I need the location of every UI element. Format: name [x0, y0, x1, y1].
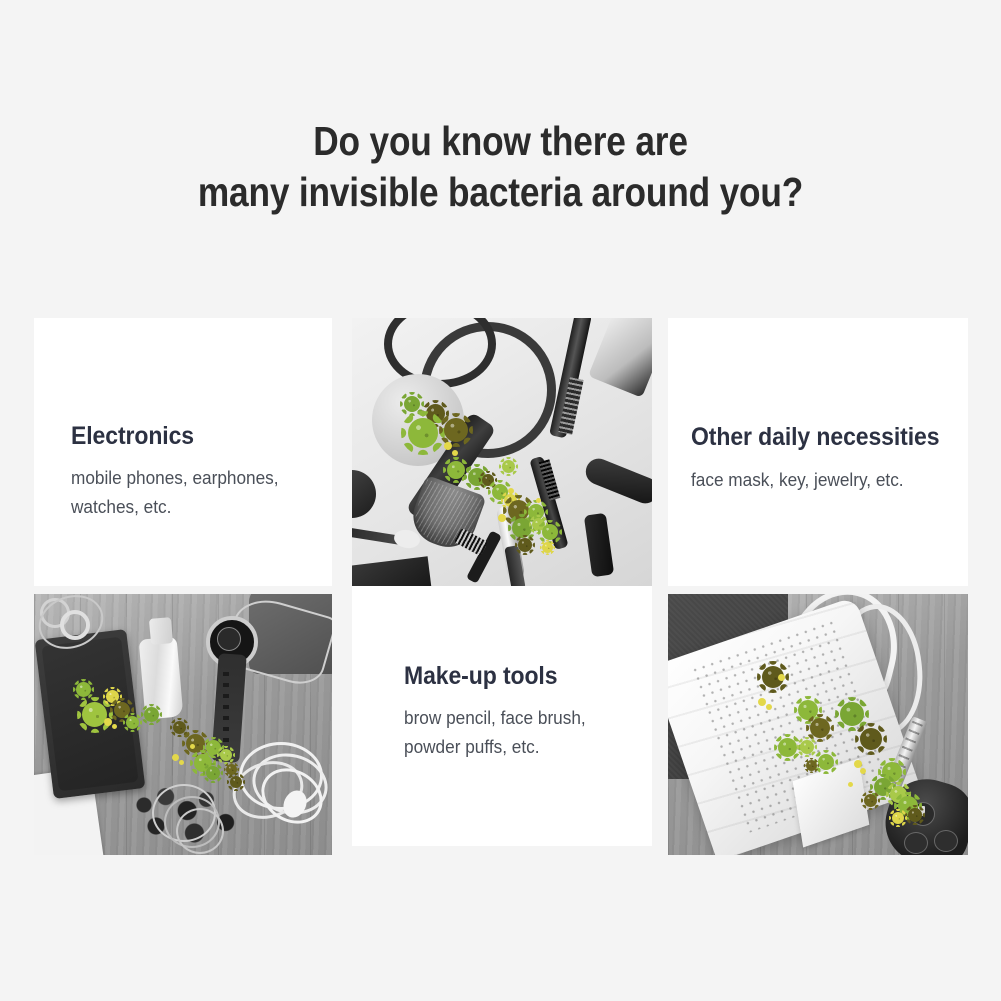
card-subtitle-other: face mask, key, jewelry, etc.: [691, 465, 904, 494]
card-other[interactable]: Other daily necessities face mask, key, …: [668, 318, 968, 586]
column-electronics: Electronics mobile phones, earphones, wa…: [34, 318, 332, 855]
column-other: Other daily necessities face mask, key, …: [668, 318, 968, 855]
photo-mask-and-key: [668, 594, 968, 855]
card-subtitle-makeup: brow pencil, face brush, powder puffs, e…: [404, 703, 586, 761]
card-title-other: Other daily necessities: [691, 422, 939, 452]
poster-root: Do you know there are many invisible bac…: [0, 0, 1001, 1001]
card-title-electronics: Electronics: [71, 421, 194, 451]
photo-makeup-tools: [352, 318, 652, 586]
card-title-makeup: Make-up tools: [404, 661, 557, 691]
card-makeup[interactable]: Make-up tools brow pencil, face brush, p…: [352, 586, 652, 846]
column-makeup: Make-up tools brow pencil, face brush, p…: [352, 318, 652, 846]
feature-grid: Electronics mobile phones, earphones, wa…: [0, 0, 1001, 1001]
card-subtitle-electronics: mobile phones, earphones, watches, etc.: [71, 463, 279, 521]
photo-electronics-desk: [34, 594, 332, 855]
card-electronics[interactable]: Electronics mobile phones, earphones, wa…: [34, 318, 332, 586]
